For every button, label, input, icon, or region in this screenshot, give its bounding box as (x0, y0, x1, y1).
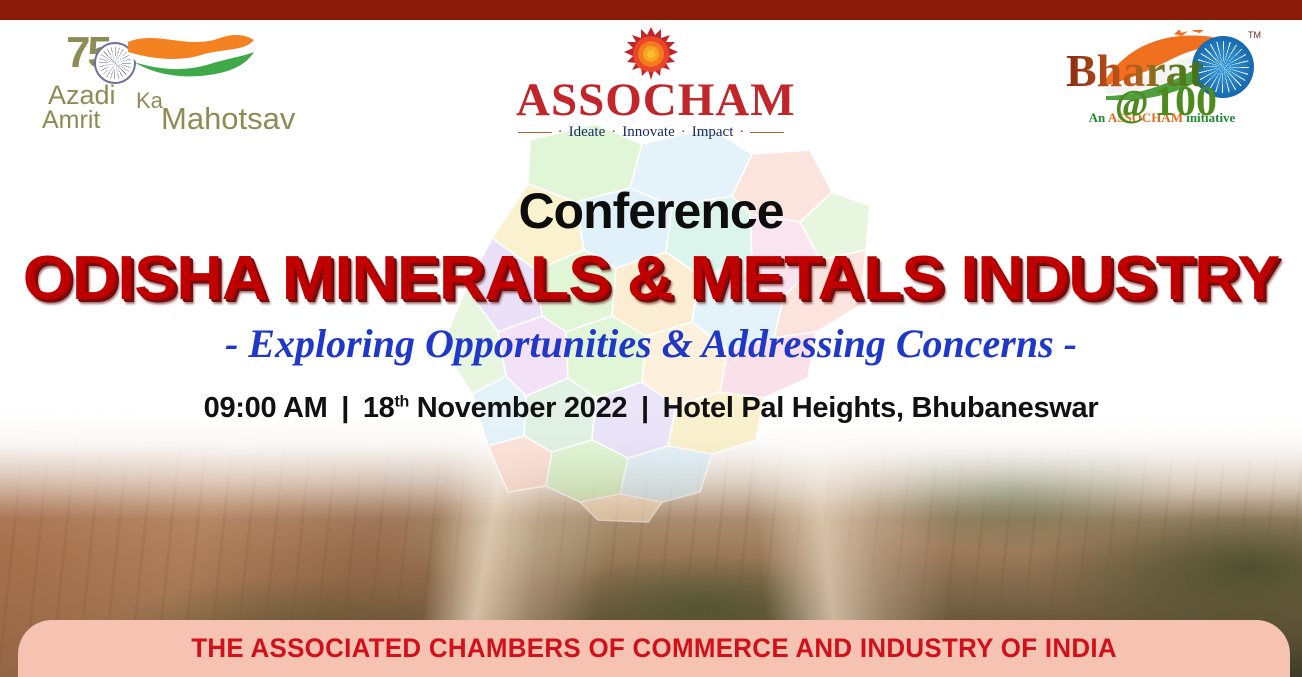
top-accent-bar (0, 0, 1302, 20)
event-subtitle: - Exploring Opportunities & Addressing C… (0, 324, 1302, 364)
event-time: 09:00 AM (204, 392, 328, 424)
event-date-day: 18 (363, 392, 395, 424)
trademark-mark: TM (1248, 30, 1261, 40)
tagline-impact: Impact (692, 124, 734, 141)
event-date-ordinal: th (395, 393, 409, 410)
at-symbol: @ (1116, 82, 1148, 126)
mahotsav-label: Mahotsav (161, 101, 295, 137)
tagline-rule-right (750, 132, 784, 133)
ka-label: Ka (136, 88, 163, 114)
tagline-ideate: Ideate (569, 124, 606, 141)
event-date-rest: November 2022 (417, 392, 628, 424)
organisation-name: THE ASSOCIATED CHAMBERS OF COMMERCE AND … (191, 633, 1117, 664)
event-venue: Hotel Pal Heights, Bhubaneswar (663, 392, 1099, 424)
tagline-innovate: Innovate (622, 124, 674, 141)
conference-kicker: Conference (0, 186, 1302, 236)
amrit-label: Amrit (42, 106, 100, 135)
assocham-wordmark: ASSOCHAM (516, 78, 786, 123)
bharat-at-100-logo: Bharat @ 100 TM An ASSOCHAM initiative (1062, 24, 1262, 139)
details-separator-2: | (635, 392, 655, 424)
hundred-numeral: 100 (1154, 78, 1217, 126)
event-details: 09:00 AM | 18th November 2022 | Hotel Pa… (0, 392, 1302, 425)
event-poster: 75 Azadi Ka Amrit Mahotsav (0, 0, 1302, 677)
headline-block: Conference ODISHA MINERALS & METALS INDU… (0, 186, 1302, 425)
organisation-band: THE ASSOCIATED CHAMBERS OF COMMERCE AND … (18, 620, 1290, 677)
details-separator-1: | (335, 392, 355, 424)
tagline-rule-left (518, 132, 552, 133)
azadi-ka-amrit-mahotsav-logo: 75 Azadi Ka Amrit Mahotsav (48, 26, 263, 141)
sun-burst-icon (623, 26, 679, 82)
tricolor-flag-icon (126, 30, 256, 82)
event-title: ODISHA MINERALS & METALS INDUSTRY (0, 248, 1302, 310)
assocham-logo: ASSOCHAM · Ideate · Innovate · Impact · (516, 26, 786, 138)
assocham-tagline: · Ideate · Innovate · Impact · (516, 124, 786, 141)
